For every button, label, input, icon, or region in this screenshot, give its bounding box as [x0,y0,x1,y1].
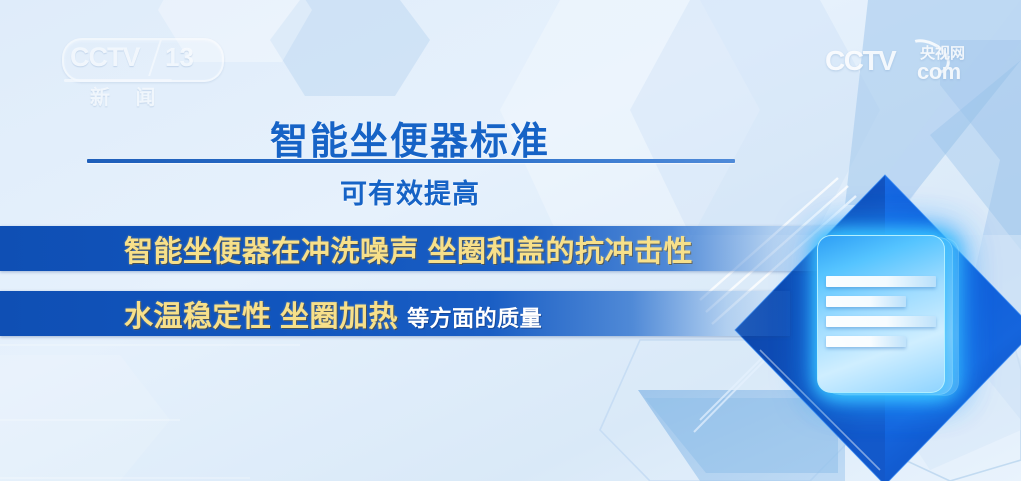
info-bar-1: 智能坐便器在冲洗噪声 坐圈和盖的抗冲击性 [0,226,840,271]
title-divider [87,159,735,163]
info-bar-1-content: 智能坐便器在冲洗噪声 坐圈和盖的抗冲击性 [0,228,702,270]
cctv-com-logo: CCTV 央视网 com [825,43,973,85]
document-sheet-front [817,235,945,393]
document-text-lines [826,276,936,356]
info-bar-2-highlight-text: 水温稳定性 坐圈加热 [124,293,398,335]
document-diamond-graphic [735,175,1021,475]
cctv13-channel-number: 13 [165,42,194,73]
cctv-com-suffix-text: com [917,59,961,85]
document-line [826,336,906,347]
document-line [826,276,936,287]
document-line [826,296,906,307]
info-bar-1-highlight-text: 智能坐便器在冲洗噪声 坐圈和盖的抗冲击性 [124,228,693,270]
info-bar-2-plain-text: 等方面的质量 [407,301,542,333]
info-bar-2: 水温稳定性 坐圈加热 等方面的质量 [0,291,790,336]
page-subtitle: 可有效提高 [0,172,820,211]
cctv13-logo: CCTV 13 新 闻 [62,38,222,106]
stacked-document-icon [817,235,955,395]
broadcast-graphic-frame: CCTV 13 新 闻 CCTV 央视网 com 智能坐便器标准 可有效提高 智… [0,0,1021,481]
info-bar-2-content: 水温稳定性 坐圈加热 等方面的质量 [0,293,542,335]
cctv13-brand-text: CCTV [70,42,140,73]
cctv-com-brand-text: CCTV [825,45,895,77]
cctv13-channel-name: 新 闻 [90,81,166,110]
page-title: 智能坐便器标准 [0,110,820,165]
document-line [826,316,936,327]
